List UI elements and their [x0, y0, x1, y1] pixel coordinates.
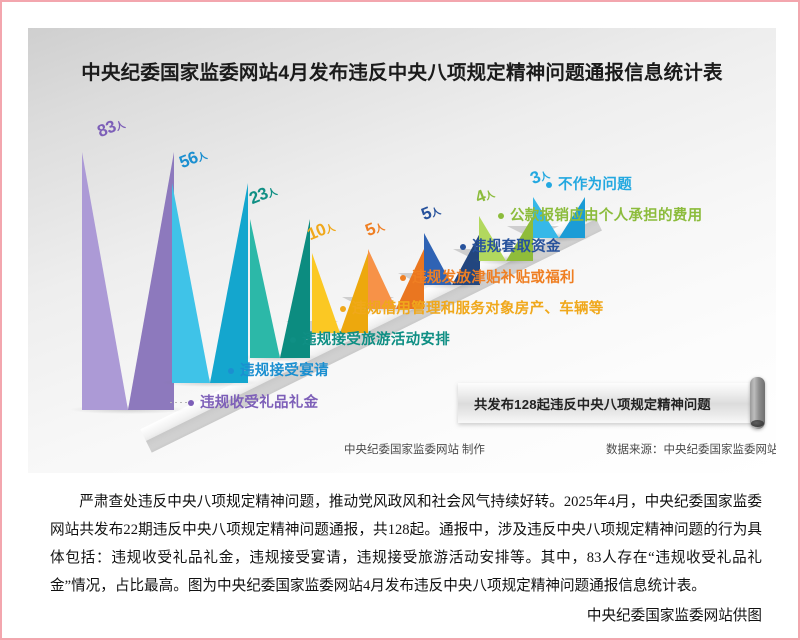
- total-banner-text: 共发布128起违反中央八项规定精神问题: [474, 383, 732, 423]
- value-number: 23: [247, 184, 271, 208]
- category-label: 违规借用管理和服务对象房产、车辆等: [352, 297, 604, 318]
- data-source-credit: 数据来源：中央纪委国家监委网站: [606, 441, 776, 457]
- value-number: 83: [95, 117, 119, 141]
- value-label: 83人: [95, 113, 128, 142]
- chart-panel: 中央纪委国家监委网站4月发布违反中央八项规定精神问题通报信息统计表 违规收受礼品…: [28, 28, 776, 473]
- category-label: 不作为问题: [558, 173, 632, 194]
- leader-dot: [188, 400, 194, 406]
- category-label: 违规接受宴请: [240, 359, 329, 380]
- value-number: 56: [177, 148, 201, 172]
- leader-dot: [228, 368, 234, 374]
- pyramid-face-right: [210, 183, 248, 383]
- producer-credit: 中央纪委国家监委网站 制作: [344, 441, 485, 457]
- pyramid-face-left: [82, 152, 128, 410]
- body-paragraph: 严肃查处违反中央八项规定精神问题，推动党风政风和社会风气持续好转。2025年4月…: [50, 488, 762, 600]
- pyramid-face-left: [312, 253, 340, 333]
- category-label: 违规收受礼品礼金: [200, 391, 318, 412]
- pyramid-bar: [172, 183, 248, 383]
- scroll-roll-icon: [750, 377, 765, 429]
- leader-dot: [498, 213, 504, 219]
- value-label: 23人: [247, 180, 280, 209]
- body-signature: 中央纪委国家监委网站供图: [50, 602, 762, 630]
- infographic-page: 中央纪委国家监委网站4月发布违反中央八项规定精神问题通报信息统计表 违规收受礼品…: [0, 0, 800, 640]
- article-body: 严肃查处违反中央八项规定精神问题，推动党风政风和社会风气持续好转。2025年4月…: [50, 488, 762, 630]
- pyramid-face-left: [250, 219, 280, 358]
- value-label: 56人: [177, 144, 210, 173]
- category-label: 违规发放津贴补贴或福利: [412, 266, 575, 287]
- category-label: 违规接受旅游活动安排: [302, 328, 450, 349]
- total-banner: 共发布128起违反中央八项规定精神问题: [458, 383, 758, 423]
- leader-dot: [460, 244, 466, 250]
- pyramid-face-right: [340, 253, 368, 333]
- value-label: 4人: [473, 183, 498, 208]
- leader-line: [170, 402, 188, 403]
- category-label: 违规套取资金: [472, 235, 561, 256]
- pyramid-face-left: [172, 183, 210, 383]
- pyramid-bar: [82, 152, 174, 410]
- pyramid-bar: [250, 219, 310, 358]
- pyramid-face-right: [128, 152, 174, 410]
- value-label: 5人: [363, 216, 388, 241]
- category-label: 公款报销应由个人承担的费用: [510, 204, 702, 225]
- pyramid-bar: [312, 253, 368, 333]
- page-title: 中央纪委国家监委网站4月发布违反中央八项规定精神问题通报信息统计表: [28, 56, 776, 85]
- leader-dot: [290, 337, 296, 343]
- leader-dot: [400, 275, 406, 281]
- leader-dot: [340, 306, 346, 312]
- value-label: 5人: [419, 200, 444, 225]
